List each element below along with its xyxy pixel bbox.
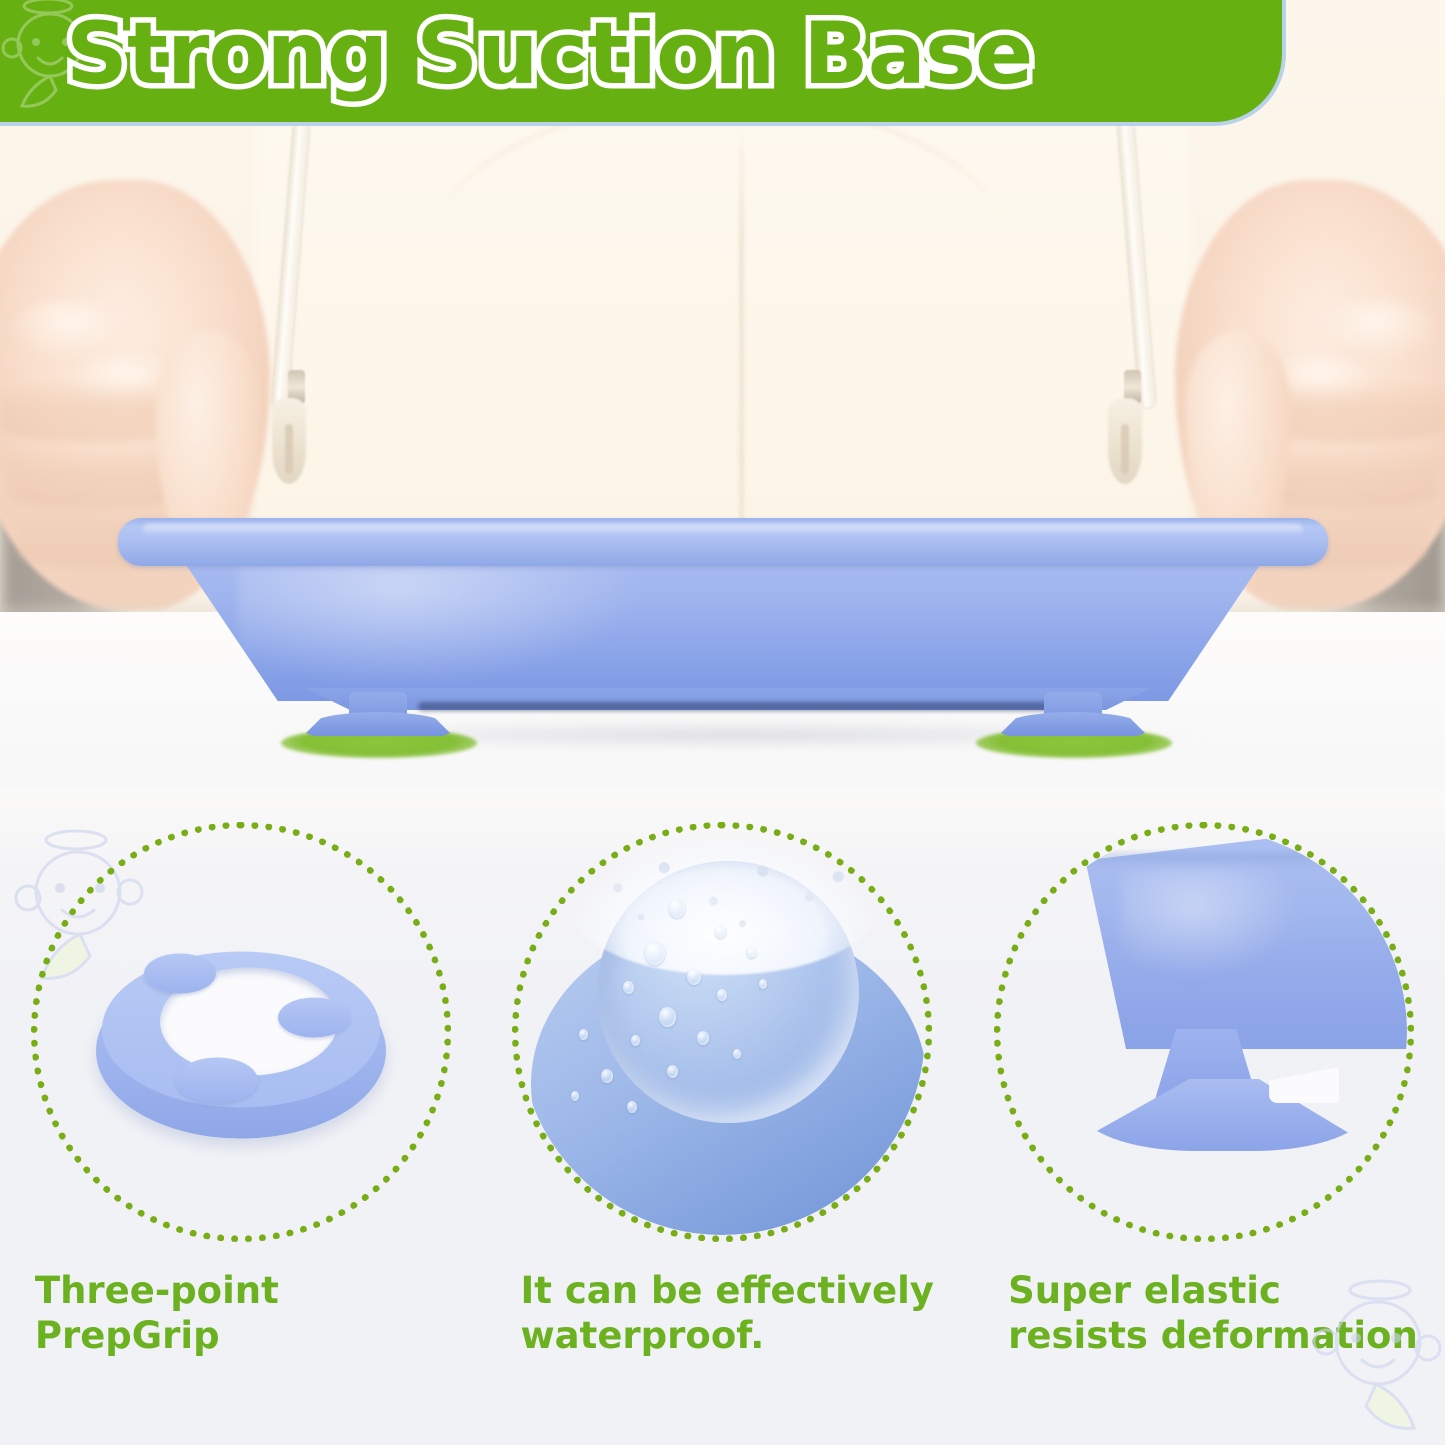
features-section: Three-point PrepGrip: [0, 790, 1445, 1445]
feature-cards: Three-point PrepGrip: [0, 822, 1445, 1358]
waterproof-droplets-image: [512, 822, 932, 1242]
suction-foot-left: [303, 692, 453, 738]
cup-highlight: [1121, 869, 1301, 979]
plate-rim: [118, 518, 1328, 566]
plate-highlight: [238, 564, 638, 684]
drawstring-knot-right: [1108, 398, 1142, 484]
knuckle: [10, 300, 130, 360]
plate-rim-highlight: [143, 524, 1303, 536]
product-infographic: Strong Suction Base: [0, 0, 1445, 1445]
baby-angel-icon: [1288, 1272, 1445, 1442]
drawstring-knot-left: [272, 398, 306, 484]
knuckle: [1315, 300, 1435, 360]
header-banner: Strong Suction Base: [0, 0, 1286, 126]
grip-tab: [176, 1058, 258, 1104]
elastic-suction-cup-image: [994, 822, 1414, 1242]
banner-title: Strong Suction Base: [66, 11, 1032, 97]
grip-tab: [144, 954, 216, 994]
silicone-plate-product: [118, 518, 1328, 708]
feature-card: Three-point PrepGrip: [13, 822, 468, 1358]
feature-card: It can be effectively waterproof.: [495, 822, 950, 1358]
suction-ring: [96, 946, 386, 1151]
cup-notch: [1269, 1067, 1339, 1103]
feature-caption: It can be effectively waterproof.: [504, 1268, 940, 1358]
feature-caption: Three-point PrepGrip: [27, 1268, 455, 1358]
three-point-grip-ring-image: [31, 822, 451, 1242]
cup-band: [1071, 853, 1407, 867]
foam-texture: [583, 843, 873, 955]
wet-suction-cup: [519, 829, 925, 1235]
suction-foot-right: [998, 692, 1148, 738]
grip-tab: [278, 998, 350, 1038]
suction-cup-profile: [1001, 829, 1407, 1235]
plate-lip-shadow: [418, 702, 1058, 711]
